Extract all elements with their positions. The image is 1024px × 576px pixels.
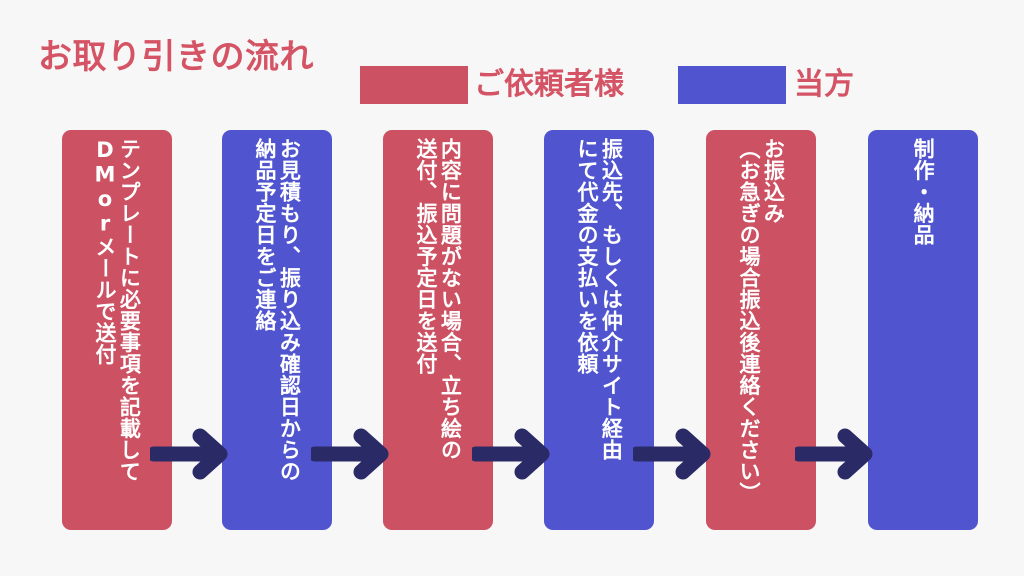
legend-swatch-client	[360, 66, 468, 104]
flow-step-6-line-1: 制作・納品	[911, 138, 935, 522]
flow-row: テンプレートに必要事項を記載して DMorメールで送付 お見積もり、振り込み確認…	[0, 130, 1024, 530]
flow-step-4-line-1: 振込先、もしくは仲介サイト経由	[599, 138, 623, 522]
flow-step-6: 制作・納品	[868, 130, 978, 530]
flow-arrow-2-to-3	[311, 426, 397, 482]
flow-arrow-1-to-2	[150, 426, 236, 482]
flow-arrow-3-to-4	[472, 426, 558, 482]
flow-arrow-4-to-5	[633, 426, 719, 482]
flow-step-1-line-1: テンプレートに必要事項を記載して	[117, 138, 141, 522]
flow-step-1-line-2: DMorメールで送付	[93, 138, 117, 522]
flow-step-4-line-2: にて代金の支払いを依頼	[575, 138, 599, 522]
arrow-right-icon	[633, 426, 719, 482]
flow-step-3-line-1: 内容に問題がない場合、立ち絵の	[438, 138, 462, 522]
header: お取り引きの流れ ご依頼者様 当方	[0, 26, 1024, 88]
flow-step-3-line-2: 送付、振込予定日を送付	[414, 138, 438, 522]
arrow-right-icon	[795, 426, 881, 482]
legend-label-client: ご依頼者様	[474, 64, 624, 106]
arrow-right-icon	[311, 426, 397, 482]
legend-label-us: 当方	[794, 64, 854, 106]
flow-step-2-line-1: お見積もり、振り込み確認日からの	[277, 138, 301, 522]
flow-step-2-line-2: 納品予定日をご連絡	[253, 138, 277, 522]
flow-step-5-line-2: （お急ぎの場合振込後連絡ください）	[737, 138, 761, 522]
arrow-right-icon	[150, 426, 236, 482]
flow-step-5-line-1: お振込み	[761, 138, 785, 522]
flow-arrow-5-to-6	[795, 426, 881, 482]
flow-step-6-text: 制作・納品	[868, 138, 978, 530]
arrow-right-icon	[472, 426, 558, 482]
flowchart-canvas: お取り引きの流れ ご依頼者様 当方 テンプレートに必要事項を記載して DMorメ…	[0, 0, 1024, 576]
legend-swatch-us	[678, 66, 786, 104]
page-title: お取り引きの流れ	[38, 26, 314, 88]
